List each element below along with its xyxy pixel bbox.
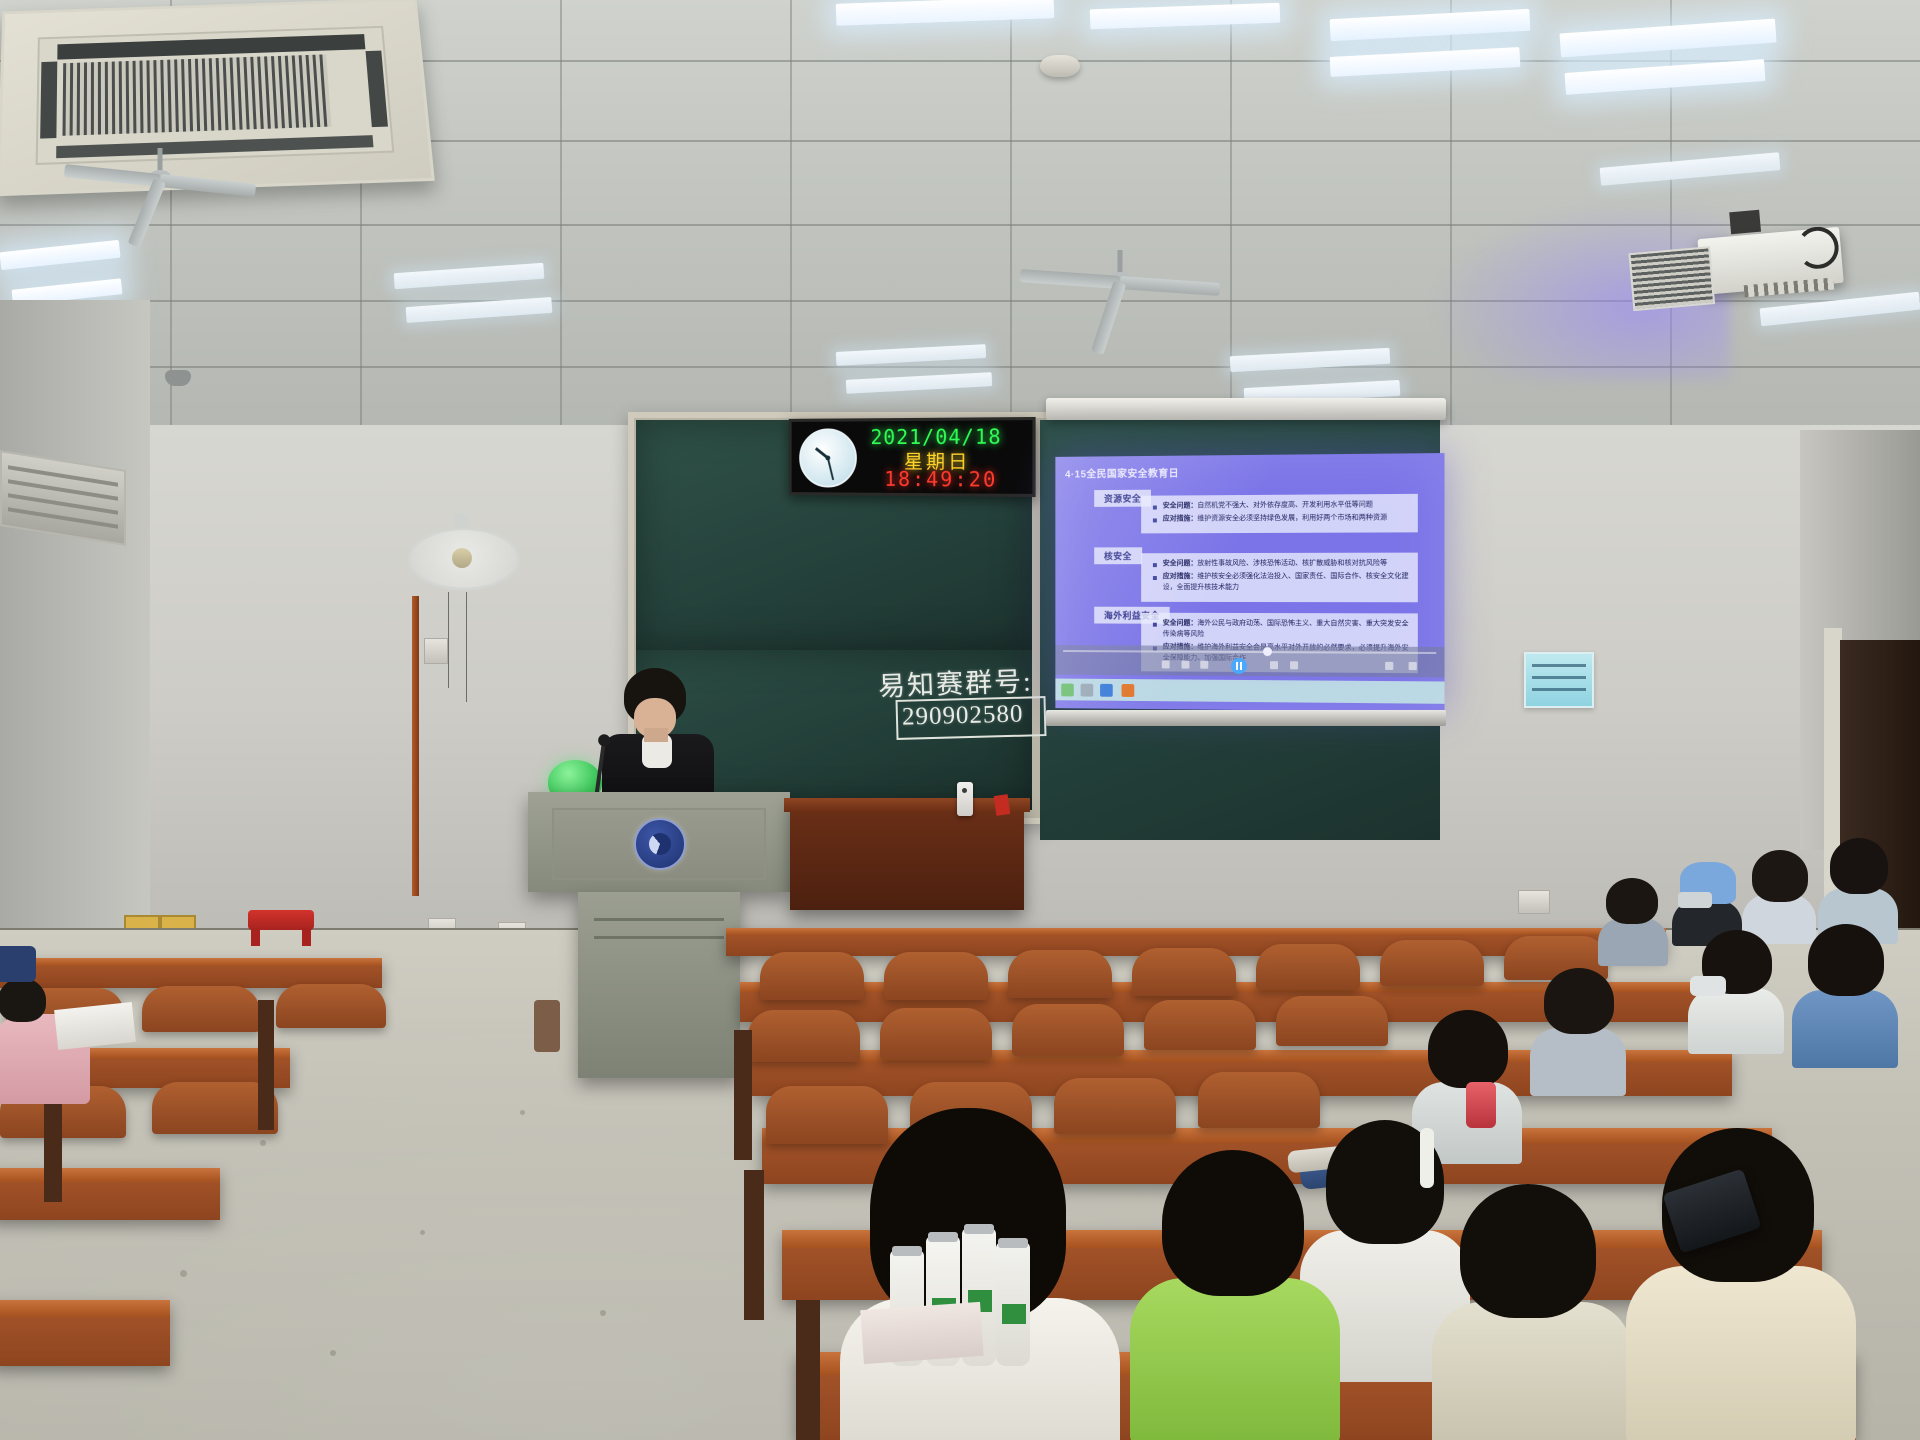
ceiling-light	[1230, 348, 1391, 372]
smoke-detector	[1040, 55, 1080, 77]
seat-back	[1144, 1000, 1256, 1050]
seat-back	[884, 952, 988, 1000]
student-person	[1598, 878, 1668, 962]
chalk-writing: 易知赛群号: 290902580	[876, 662, 1066, 748]
ceiling-light	[1600, 152, 1781, 186]
desk-row	[0, 1300, 170, 1366]
wall-poster	[1524, 652, 1594, 708]
green-hoodie	[1130, 1278, 1340, 1440]
red-stool	[248, 910, 314, 946]
fan-pull-cord[interactable]	[466, 592, 467, 702]
face-mask	[1690, 976, 1726, 996]
face-mask	[1678, 892, 1712, 908]
bag	[534, 1000, 560, 1052]
red-object	[994, 794, 1011, 816]
desk-leg	[734, 1030, 752, 1160]
seat-back	[1276, 996, 1388, 1046]
seat-back	[1380, 940, 1484, 986]
classroom-photo: 易知赛群号: 290902580 2021/04/18 星期日 18:49:20…	[0, 0, 1920, 1440]
clock-date: 2021/04/18	[871, 424, 1002, 449]
seat-back	[760, 952, 864, 1000]
seat-back	[1008, 950, 1112, 998]
seat-back	[142, 986, 260, 1032]
projection-screen: 4·15全民国家安全教育日 资源安全 安全问题：自然机党不强大、对外依存度高、开…	[1055, 453, 1444, 712]
seat-back	[1132, 948, 1236, 996]
ceiling-light	[846, 372, 993, 394]
ceiling-light	[394, 263, 545, 289]
wall-socket[interactable]	[1518, 890, 1550, 914]
podium-base	[578, 892, 740, 1078]
security-camera	[165, 370, 191, 386]
student-person	[1432, 1184, 1632, 1440]
ceiling-fan	[60, 148, 260, 228]
student-person	[1130, 1150, 1340, 1440]
wall-pipe	[412, 596, 419, 896]
ceiling-light	[1564, 59, 1765, 95]
backpack	[0, 946, 36, 982]
wall-socket[interactable]	[424, 638, 448, 664]
teacher-desk	[790, 798, 1024, 910]
papers	[54, 1002, 136, 1050]
student-person	[1688, 930, 1784, 1050]
student-person	[1792, 924, 1898, 1064]
seat-back	[276, 984, 386, 1028]
ceiling-fan	[1010, 250, 1230, 330]
ceiling-light	[1330, 47, 1521, 77]
ceiling-light	[836, 344, 987, 366]
seat-back	[1256, 944, 1360, 990]
student-person	[1530, 968, 1626, 1092]
ceiling-light	[1559, 18, 1776, 57]
left-wall	[0, 300, 150, 960]
wall-fan	[408, 524, 514, 596]
desk-row	[0, 1168, 220, 1220]
ceiling-light	[836, 0, 1055, 26]
presenter-person	[600, 668, 720, 798]
seat-back	[880, 1008, 992, 1060]
paper-bag	[860, 1302, 983, 1364]
analog-clock-icon	[799, 428, 857, 487]
denim-jacket	[1792, 990, 1898, 1068]
seat-back	[1012, 1004, 1124, 1056]
ceiling-light	[0, 240, 121, 270]
projection-screen-case	[1046, 398, 1446, 420]
university-crest-icon	[634, 818, 686, 870]
earphone-cable	[1420, 1128, 1434, 1188]
thermos-bottle	[1466, 1082, 1496, 1128]
smartphone[interactable]	[957, 782, 973, 816]
projection-screen-weight-bar	[1046, 710, 1446, 726]
ceiling-light	[1330, 9, 1531, 41]
clock-time: 18:49:20	[884, 467, 997, 492]
desk-leg	[796, 1300, 820, 1440]
desk-leg	[258, 1000, 274, 1130]
led-clock-panel: 2021/04/18 星期日 18:49:20	[789, 417, 1036, 497]
seat-back	[748, 1010, 860, 1062]
desk-leg	[744, 1170, 764, 1320]
ceiling-light	[1090, 3, 1281, 30]
chalk-number: 290902580	[902, 700, 1024, 731]
fan-pull-cord[interactable]	[448, 592, 449, 688]
